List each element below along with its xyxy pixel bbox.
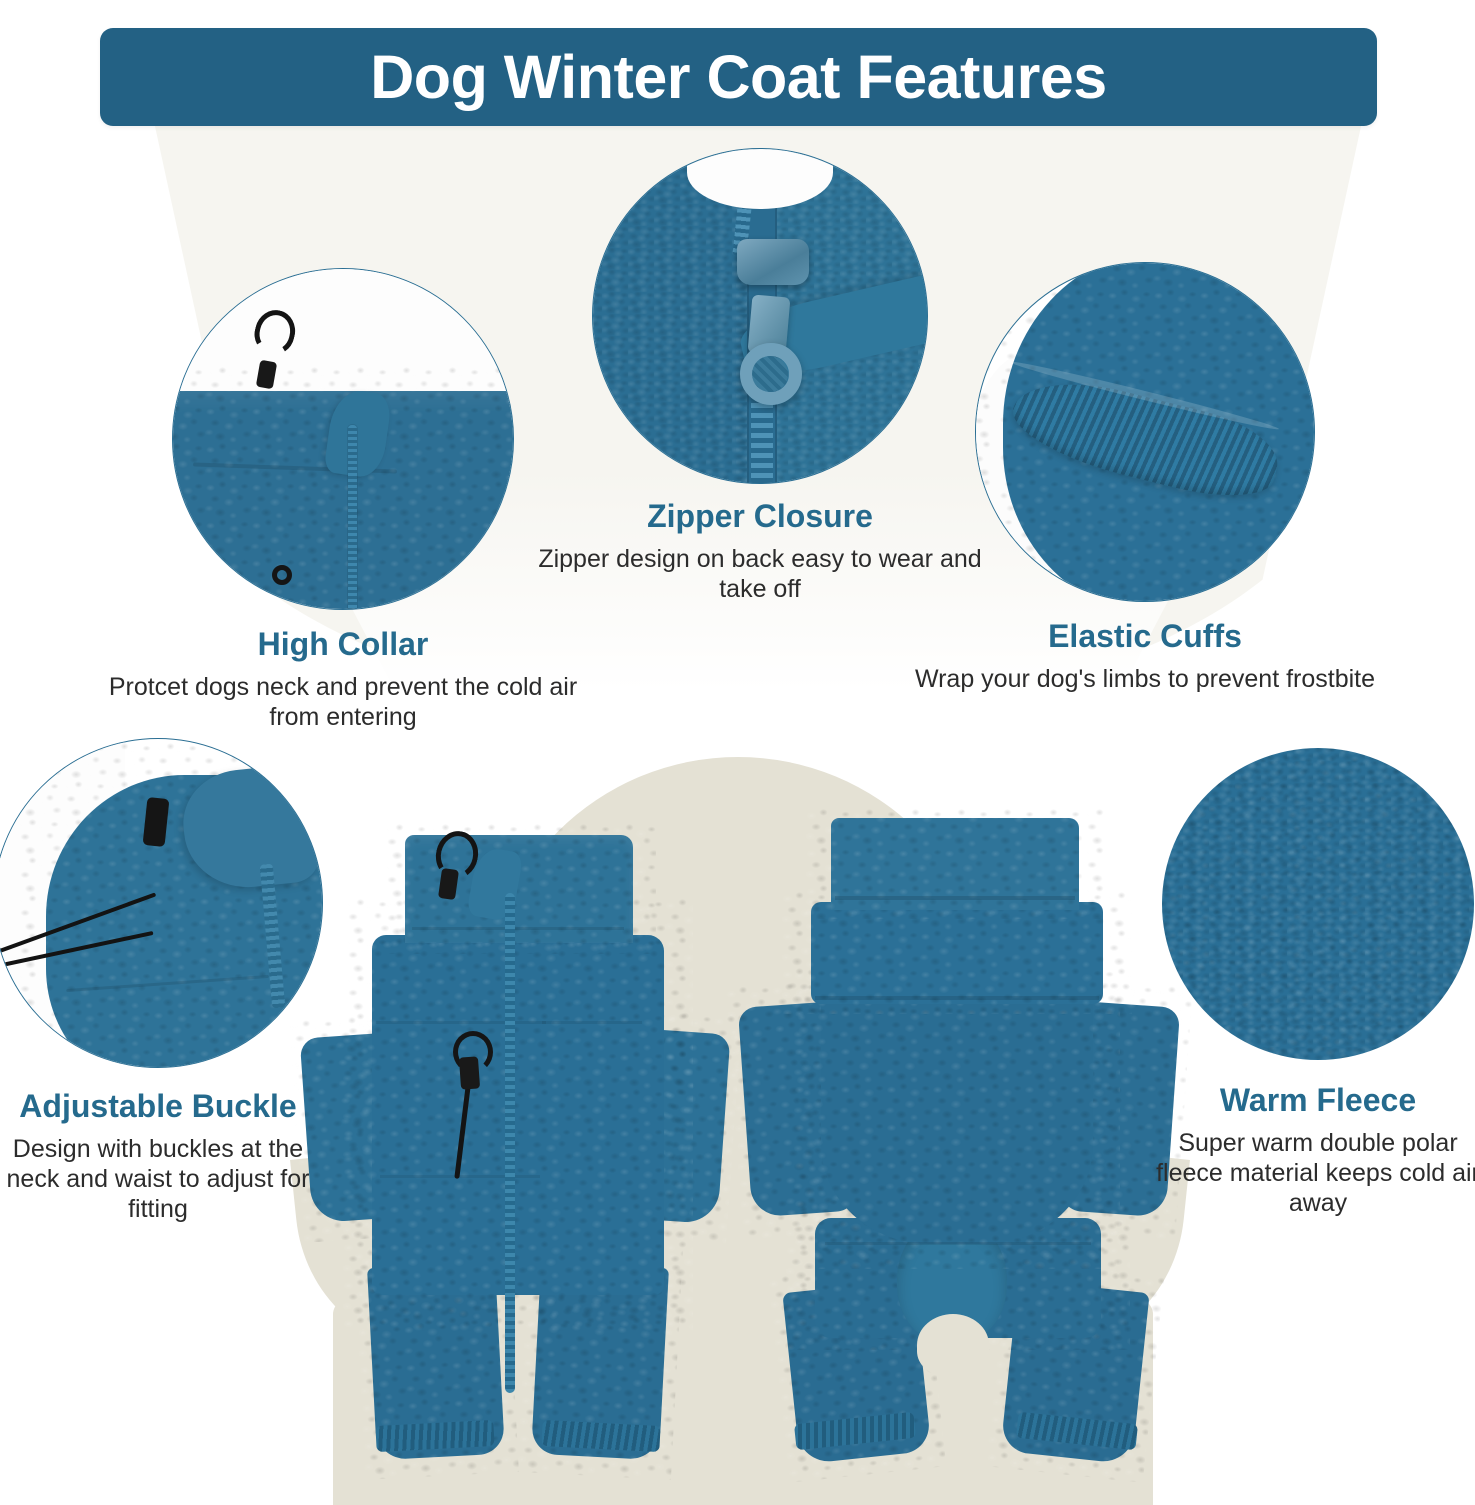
feature-warm-fleece: Warm Fleece Super warm double polar flee…	[1150, 748, 1475, 1218]
feature-elastic-cuffs: Elastic Cuffs Wrap your dog's limbs to p…	[910, 262, 1380, 694]
back-torso	[821, 994, 1093, 1244]
back-leg-gap	[917, 1314, 989, 1376]
elastic-cuffs-description: Wrap your dog's limbs to prevent frostbi…	[910, 664, 1380, 694]
front-waist-cord-toggle-icon	[459, 1056, 480, 1089]
adjustable-buckle-description: Design with buckles at the neck and wais…	[0, 1134, 328, 1224]
adjustable-buckle-image	[0, 738, 323, 1068]
back-collar-seam	[835, 896, 1075, 900]
warm-fleece-title: Warm Fleece	[1150, 1082, 1475, 1120]
high-collar-title: High Collar	[108, 626, 578, 664]
front-waist-seam	[380, 1175, 540, 1178]
warm-fleece-image	[1162, 748, 1474, 1060]
zipper-teeth-icon	[348, 425, 357, 610]
front-chest-seam-left	[376, 1021, 546, 1024]
adjustable-buckle-title: Adjustable Buckle	[0, 1088, 328, 1126]
feature-high-collar: High Collar Protcet dogs neck and preven…	[108, 268, 578, 732]
fleece-texture	[382, 824, 656, 954]
page-title-bar: Dog Winter Coat Features	[100, 28, 1377, 126]
fleece-texture	[806, 809, 1104, 919]
back-hip-seam	[825, 1242, 1091, 1245]
zipper-closure-image	[592, 148, 928, 484]
front-torso	[372, 935, 664, 1295]
adjustable-buckle-caption: Adjustable Buckle Design with buckles at…	[0, 1088, 328, 1224]
product-front-view	[300, 835, 720, 1455]
zipper-pull-ring-inner	[752, 356, 788, 392]
page-title: Dog Winter Coat Features	[370, 47, 1106, 108]
high-collar-description: Protcet dogs neck and prevent the cold a…	[108, 672, 578, 732]
warm-fleece-caption: Warm Fleece Super warm double polar flee…	[1150, 1082, 1475, 1218]
back-yoke-seam	[815, 996, 1099, 1000]
elastic-cuffs-image	[975, 262, 1315, 602]
high-collar-image	[172, 268, 514, 610]
fleece-texture-fine	[1162, 748, 1474, 1060]
high-collar-caption: High Collar Protcet dogs neck and preven…	[108, 626, 578, 732]
front-zipper-icon	[505, 893, 515, 1393]
elastic-cuffs-title: Elastic Cuffs	[910, 618, 1380, 656]
product-back-view	[745, 818, 1165, 1458]
front-chest-seam-right	[542, 1021, 642, 1024]
elastic-cuffs-caption: Elastic Cuffs Wrap your dog's limbs to p…	[910, 618, 1380, 694]
eyelet-icon	[272, 565, 292, 585]
warm-fleece-description: Super warm double polar fleece material …	[1150, 1128, 1475, 1218]
fleece-texture	[343, 899, 693, 1331]
feature-adjustable-buckle: Adjustable Buckle Design with buckles at…	[0, 738, 328, 1224]
front-collar-seam	[412, 927, 624, 930]
zipper-slider-body	[737, 239, 809, 285]
